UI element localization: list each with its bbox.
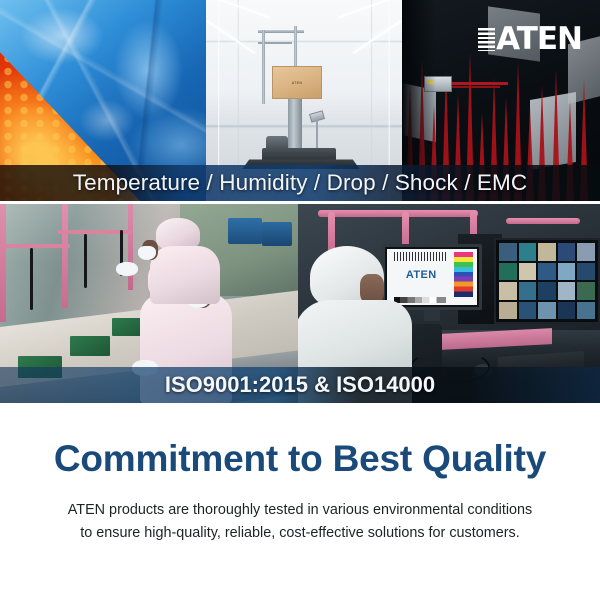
drop-rig-column: [288, 96, 302, 152]
color-bar-test-pattern: [454, 252, 474, 297]
top-caption-banner: Temperature / Humidity / Drop / Shock / …: [0, 165, 600, 201]
aten-stripes-icon: [478, 28, 495, 51]
test-carton: ATEN: [272, 66, 322, 99]
display-tile: [519, 243, 537, 261]
footer-body-line-2: to ensure high-quality, reliable, cost-e…: [0, 522, 600, 545]
qc-monitor: ATEN: [382, 244, 482, 310]
footer-body-line-1: ATEN products are thoroughly tested in v…: [0, 499, 600, 522]
pink-frame-rail: [0, 204, 6, 322]
pink-frame-rail: [62, 204, 68, 308]
display-tile: [538, 243, 556, 261]
drop-rig-post-b: [262, 30, 265, 104]
display-tile: [558, 302, 576, 320]
overhead-arm: [0, 244, 70, 248]
display-tile: [499, 282, 517, 300]
display-tile: [558, 263, 576, 281]
footer-body: ATEN products are thoroughly tested in v…: [0, 499, 600, 546]
bottom-caption-text: ISO9001:2015 & ISO14000: [165, 372, 435, 398]
display-wall: [494, 238, 600, 324]
display-tile: [577, 263, 595, 281]
display-tile: [499, 243, 517, 261]
bottom-caption-banner: ISO9001:2015 & ISO14000: [0, 367, 600, 403]
display-tile: [499, 263, 517, 281]
display-tile: [538, 302, 556, 320]
worker-glove: [116, 262, 138, 276]
pink-pipe-frame: [506, 218, 580, 224]
clean-room-gown: [150, 246, 220, 304]
face-mask: [138, 246, 156, 260]
display-tile: [577, 302, 595, 320]
display-tile: [538, 282, 556, 300]
circuit-board: [70, 336, 110, 356]
display-tile: [519, 282, 537, 300]
display-wall-tiles: [499, 243, 595, 319]
footer-text-block: Commitment to Best Quality ATEN products…: [0, 403, 600, 600]
display-tile: [519, 263, 537, 281]
display-tile: [499, 302, 517, 320]
display-tile: [577, 282, 595, 300]
barcode-pattern-icon: [394, 252, 446, 261]
tool-cable: [30, 248, 33, 310]
screen-logo-text: ATEN: [406, 269, 437, 281]
aten-logo: ATEN: [478, 22, 582, 56]
storage-bin: [262, 222, 292, 246]
aten-wordmark: ATEN: [496, 24, 582, 55]
display-tile: [558, 243, 576, 261]
emc-antenna-boom: [450, 82, 508, 85]
tool-cable: [84, 234, 87, 288]
top-caption-text: Temperature / Humidity / Drop / Shock / …: [73, 170, 527, 196]
storage-bin: [228, 218, 262, 244]
carton-brand-label: ATEN: [292, 81, 303, 85]
qc-monitor-screen: ATEN: [387, 249, 477, 305]
display-tile: [558, 282, 576, 300]
greyscale-test-pattern: [394, 297, 446, 303]
display-tile: [519, 302, 537, 320]
screen-logo: ATEN: [396, 267, 446, 284]
display-tile: [577, 243, 595, 261]
page-title: Commitment to Best Quality: [0, 439, 600, 480]
emc-antenna-boom-lower: [450, 86, 500, 88]
display-tile: [538, 263, 556, 281]
pink-frame-rail: [128, 204, 133, 290]
promo-banner: ATEN: [0, 0, 600, 600]
pink-pipe-frame: [318, 210, 478, 217]
